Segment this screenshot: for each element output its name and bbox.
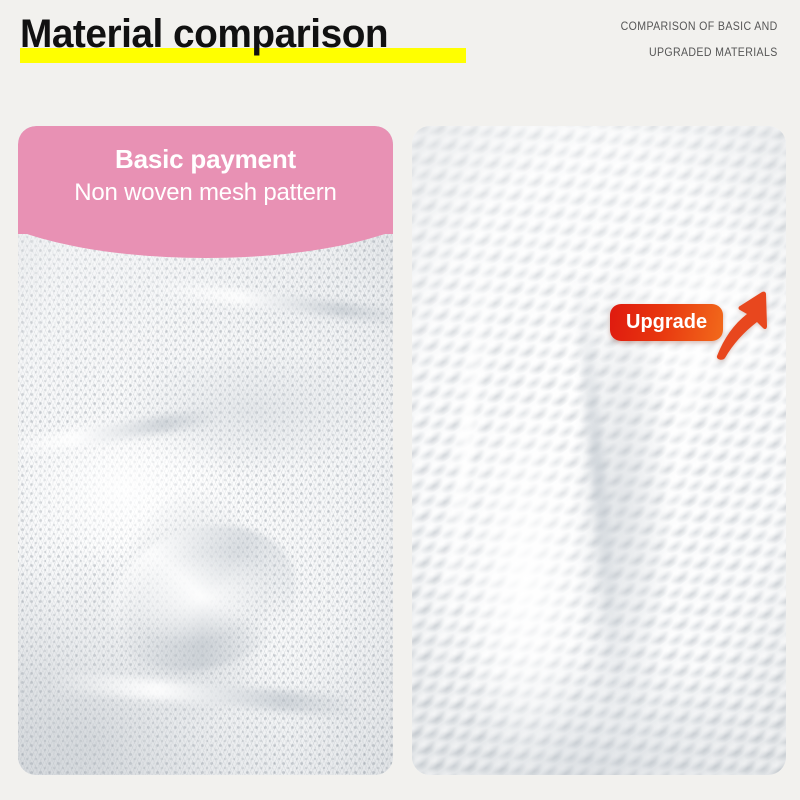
panel-basic[interactable]: Basic payment Non woven mesh pattern [18, 126, 393, 775]
upgrade-arrow-icon [714, 286, 778, 360]
page-title: Material comparison [20, 8, 388, 60]
header-subtitle-line-2: UPGRADED MATERIALS [621, 40, 778, 66]
header-subtitle-line-1: COMPARISON OF BASIC AND [621, 14, 778, 40]
banner-basic: Basic payment Non woven mesh pattern [18, 126, 393, 234]
fabric-vignette [412, 126, 786, 775]
banner-basic-text: Basic payment Non woven mesh pattern [18, 126, 393, 209]
panel-upgraded[interactable]: Upgrade [412, 126, 786, 775]
banner-basic-title: Basic payment [18, 143, 393, 176]
title-block: Material comparison [20, 8, 400, 60]
material-comparison-page: Material comparison COMPARISON OF BASIC … [0, 0, 800, 800]
fabric-image-pearl [412, 126, 786, 775]
banner-bottom-curve-icon [18, 222, 393, 268]
upgrade-badge[interactable]: Upgrade [610, 304, 723, 341]
header-subtitle: COMPARISON OF BASIC AND UPGRADED MATERIA… [621, 14, 778, 66]
page-header: Material comparison COMPARISON OF BASIC … [0, 0, 800, 112]
banner-basic-subtitle: Non woven mesh pattern [18, 176, 393, 209]
